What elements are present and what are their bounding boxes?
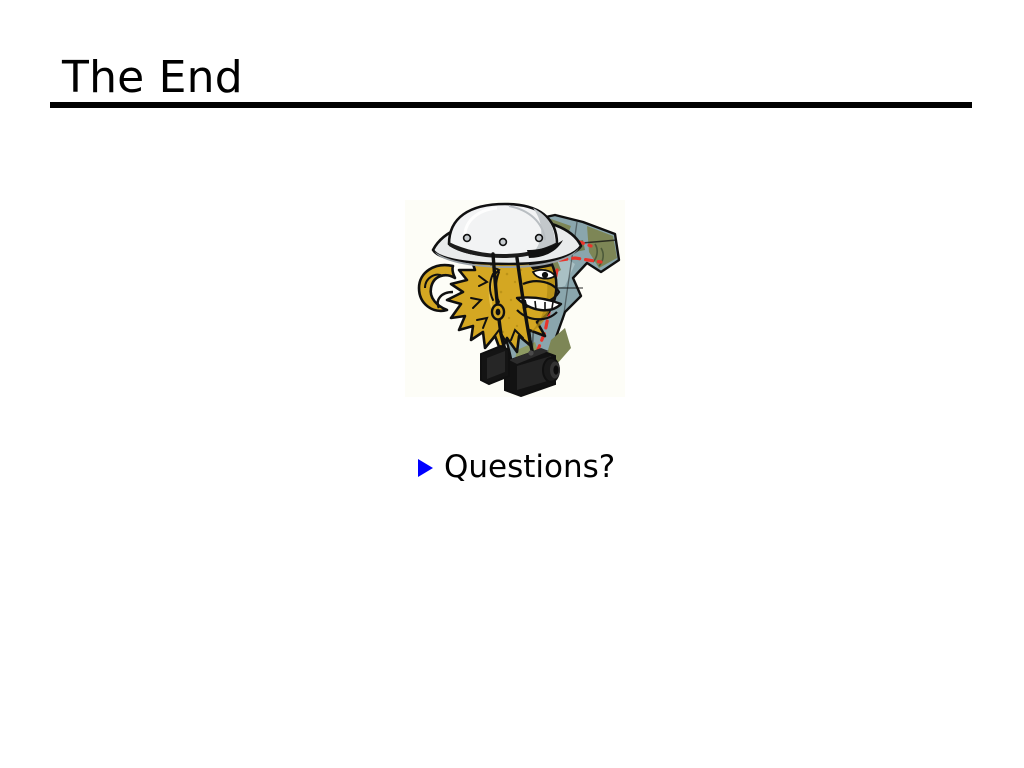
list-item: Questions? [418,448,615,486]
mascot-illustration-svg [405,200,625,397]
puffy-explorer-mascot-image [405,200,625,397]
page-title: The End [62,52,243,104]
bullet-label: Questions? [444,448,615,486]
eye-pupil [542,272,548,278]
triangle-right-icon [418,459,433,477]
title-underline-rule [50,102,972,108]
